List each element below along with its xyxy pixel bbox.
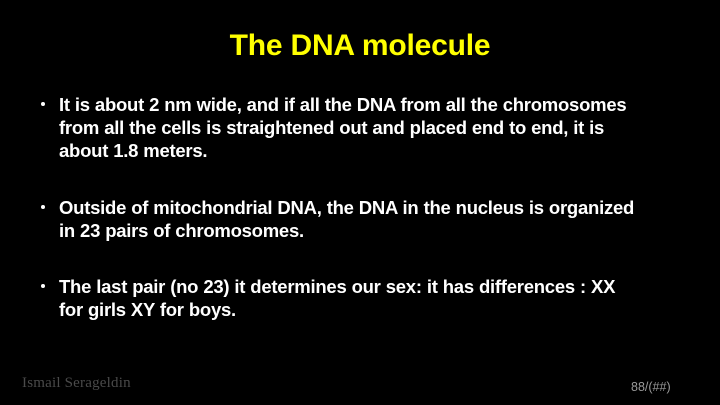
list-item: Outside of mitochondrial DNA, the DNA in… (38, 196, 642, 242)
bullet-list: It is about 2 nm wide, and if all the DN… (38, 93, 642, 321)
list-item-text: It is about 2 nm wide, and if all the DN… (59, 93, 642, 163)
list-item-text: The last pair (no 23) it determines our … (59, 275, 642, 321)
list-item: It is about 2 nm wide, and if all the DN… (38, 93, 642, 163)
presentation-slide: The DNA molecule It is about 2 nm wide, … (0, 0, 720, 405)
list-item: The last pair (no 23) it determines our … (38, 275, 642, 321)
round-bullet-icon (41, 205, 45, 209)
list-item-text: Outside of mitochondrial DNA, the DNA in… (59, 196, 642, 242)
page-number: 88/(##) (631, 380, 671, 394)
round-bullet-icon (41, 284, 45, 288)
page-title: The DNA molecule (0, 30, 720, 62)
round-bullet-icon (41, 102, 45, 106)
footer-author: Ismail Serageldin (22, 375, 131, 392)
